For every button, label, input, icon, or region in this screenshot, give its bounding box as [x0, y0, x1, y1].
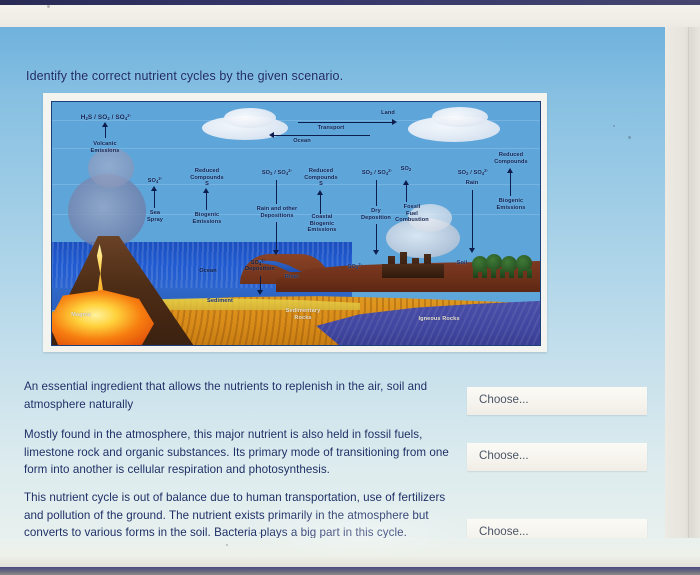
forest — [470, 244, 538, 278]
question-2-text: Mostly found in the atmosphere, this maj… — [24, 426, 466, 479]
label-sedimentary-rocks: SedimentaryRocks — [270, 308, 336, 321]
label-biogenic-emissions-left: BiogenicEmissions — [176, 212, 238, 225]
screen-glare — [250, 500, 470, 560]
label-coastal-biogenic-emissions: CoastalBiogenicEmissions — [292, 214, 352, 234]
page-right-margin — [665, 27, 700, 567]
cloud-left-top — [224, 108, 276, 128]
question-1-text: An essential ingredient that allows the … — [24, 378, 464, 413]
label-igneous-rocks: Igneous Rocks — [404, 316, 474, 323]
label-volcanic-emissions: VolcanicEmissions — [74, 141, 136, 154]
label-ocean: Ocean — [186, 268, 230, 275]
factory-body — [382, 264, 444, 278]
label-sea-spray: SeaSpray — [132, 210, 178, 223]
question-2-dropdown-label: Choose... — [479, 449, 529, 462]
label-fossil-fuel-combustion: FossilFuelCombustion — [378, 204, 446, 224]
label-sediment: Sediment — [194, 298, 246, 305]
question-3-dropdown-label: Choose... — [479, 525, 529, 538]
question-panel: Identify the correct nutrient cycles by … — [0, 27, 665, 538]
question-1-dropdown-label: Choose... — [479, 393, 529, 406]
dust-speck — [613, 125, 615, 127]
question-2-dropdown[interactable]: Choose... — [467, 443, 647, 471]
label-sea-spray-formula: SO42- — [134, 176, 176, 186]
dust-speck — [47, 5, 50, 8]
page-title: Identify the correct nutrient cycles by … — [26, 69, 456, 83]
page-right-rule — [688, 27, 689, 567]
volcano — [51, 222, 194, 346]
dust-speck — [259, 532, 261, 534]
label-ocean-transport: Ocean — [280, 138, 324, 145]
label-biogenic-emissions-right: BiogenicEmissions — [480, 198, 541, 211]
question-1-dropdown[interactable]: Choose... — [467, 387, 647, 415]
dust-speck — [628, 136, 631, 139]
label-reduced-compounds-right: ReducedCompounds — [480, 152, 541, 165]
browser-chrome-strip — [0, 5, 700, 27]
label-transport: Transport — [300, 125, 362, 132]
label-so4-deposition: Deposition — [234, 266, 286, 273]
label-reduced-compounds-left: ReducedCompoundsS — [174, 168, 240, 188]
label-land: Land — [368, 110, 408, 117]
label-soil: Soil — [448, 260, 476, 267]
window-bottom-bar — [0, 567, 700, 575]
label-river: River — [276, 274, 308, 281]
label-rain: Rain — [454, 180, 490, 187]
dust-speck — [226, 544, 228, 546]
sulfur-cycle-diagram: H2S / SO2 / SO42- VolcanicEmissions SO42… — [51, 101, 541, 346]
cloud-right-top — [432, 107, 488, 127]
label-so4-soil: SO42- — [340, 262, 370, 272]
label-magma: Magma — [60, 312, 102, 319]
factory — [382, 248, 444, 278]
label-fossil-fuel-formula: SO2 — [386, 166, 426, 174]
sulfur-cycle-figure-frame: H2S / SO2 / SO42- VolcanicEmissions SO42… — [43, 93, 547, 352]
label-rain-formula: SO2 / SO42- — [434, 168, 512, 178]
